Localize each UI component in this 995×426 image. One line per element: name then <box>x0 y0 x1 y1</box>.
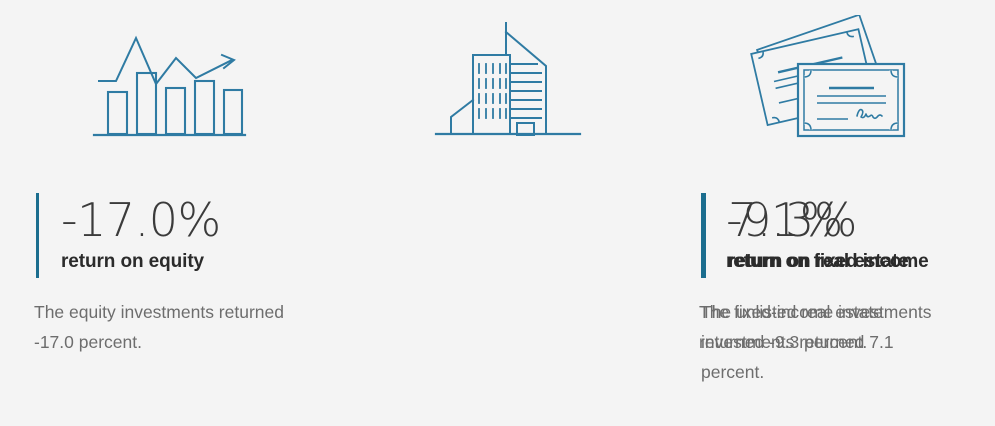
stat-value: -17.0% <box>61 193 221 247</box>
stat-label: return on equity <box>61 249 221 275</box>
stat-text: 7.1% return on real estate <box>728 193 909 278</box>
stat-label: return on real estate <box>728 249 909 275</box>
accent-bar <box>36 193 39 278</box>
panel-return-on-real-estate: 7.1% return on real estate The unlisted … <box>668 0 995 426</box>
certificates-icon <box>668 10 995 150</box>
stat-block-equity: -17.0% return on equity <box>36 193 221 278</box>
returns-summary-board: -17.0% return on equity The equity inves… <box>0 0 995 426</box>
panel-return-on-equity: -17.0% return on equity The equity inves… <box>0 0 333 426</box>
stat-description: The unlisted real estate investments ret… <box>701 297 931 387</box>
stat-value: 7.1% <box>728 193 909 247</box>
accent-bar <box>703 193 706 278</box>
stat-description: The equity investments returned -17.0 pe… <box>34 297 284 357</box>
stat-text: -17.0% return on equity <box>61 193 221 278</box>
panel-return-on-fixed-income: -9.3% return on fixed income The fixed-i… <box>333 0 668 426</box>
stat-block-real-estate: 7.1% return on real estate <box>703 193 909 278</box>
